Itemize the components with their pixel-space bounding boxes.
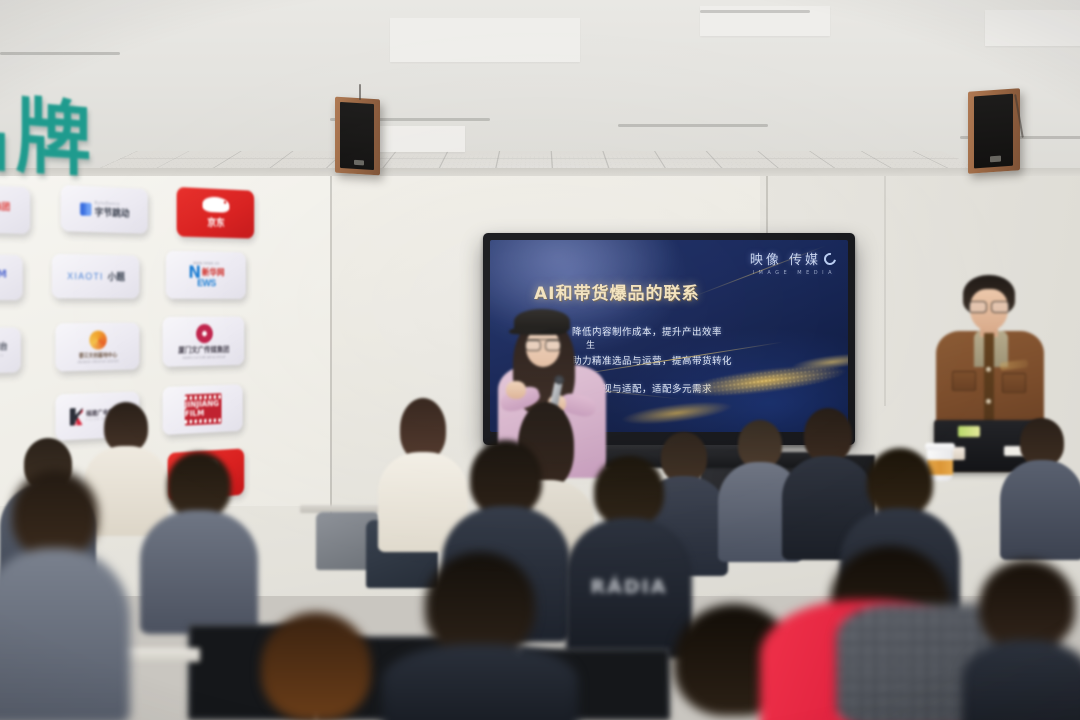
brand-card-cn: 新华网 bbox=[202, 269, 225, 279]
presenter-beret bbox=[514, 309, 570, 335]
audience-head bbox=[470, 440, 542, 516]
audience-head bbox=[594, 456, 664, 526]
audience-head bbox=[867, 448, 933, 516]
laptop-sticker bbox=[958, 426, 980, 437]
audience-torso bbox=[0, 548, 130, 720]
audience-member-foreground bbox=[382, 552, 578, 720]
audience-head bbox=[104, 402, 148, 452]
audience-head bbox=[261, 612, 371, 720]
brand-card: 厦门文广传媒集团 XIAMEN CULTURE MEDIA GROUP bbox=[163, 317, 244, 367]
brand-card-cn: 京东 bbox=[207, 216, 224, 228]
jacket-button bbox=[986, 367, 991, 372]
brand-card-cn: 小题 bbox=[108, 270, 125, 284]
audience-head bbox=[167, 452, 231, 518]
ceiling-speaker-left bbox=[335, 98, 380, 174]
presenter-left-hand bbox=[506, 381, 526, 399]
slide-title: AI和带货爆品的联系 bbox=[534, 279, 699, 304]
brand-card-jd: 京东 bbox=[177, 187, 254, 239]
speaker-badge bbox=[990, 156, 1001, 163]
audience-member bbox=[1000, 418, 1080, 558]
xiamen-badge-icon bbox=[196, 324, 213, 343]
brand-card-cn: 晋江文创基地中心 bbox=[77, 351, 119, 359]
standing-organizer-glasses bbox=[968, 301, 1010, 311]
photo-scene: 品牌 恒安集团 HENGAN ByteDance 字节跳动 bbox=[0, 0, 1080, 720]
brand-card: XIAOTI 小题 bbox=[52, 254, 139, 299]
jacket-pocket-right bbox=[1002, 373, 1026, 393]
ceiling-shadow bbox=[618, 124, 768, 127]
brand-card-en: XIAOTI bbox=[67, 271, 104, 282]
jacket-button bbox=[986, 399, 991, 404]
slide-brand-logo: 映像 传媒 IMAGE MEDIA bbox=[750, 249, 836, 276]
ring-icon bbox=[822, 250, 839, 267]
fujian-k-icon bbox=[70, 408, 83, 426]
brand-card: 晋江文创基地中心 JINJIANG CREATIVE CENTER bbox=[56, 323, 140, 372]
slide-logo-en: IMAGE MEDIA bbox=[750, 270, 836, 276]
brand-card-cn: 喜马拉雅FM bbox=[0, 268, 7, 280]
wall-seam bbox=[884, 176, 886, 406]
brand-card-cn: 泉州广播电视台 bbox=[0, 343, 8, 352]
ceiling-shadow bbox=[700, 10, 810, 13]
jinjiang-swirl-icon bbox=[89, 330, 106, 349]
brand-card-cn: 恒安集团 bbox=[0, 202, 10, 212]
jacket-text: RÁDIA bbox=[591, 576, 668, 598]
brand-wall-headline: 品牌 bbox=[0, 88, 96, 181]
jd-dog-icon bbox=[203, 196, 230, 212]
brand-card: ByteDance 字节跳动 bbox=[61, 185, 148, 234]
bytedance-mark bbox=[80, 203, 91, 216]
ceiling-panel bbox=[985, 10, 1080, 46]
film-strip-icon: JINJIANG FILM bbox=[185, 393, 222, 425]
ceiling-speaker-right bbox=[968, 90, 1020, 172]
brand-card-en: JINJIANG CREATIVE CENTER bbox=[77, 359, 119, 364]
brand-card-en: HENGAN bbox=[0, 211, 10, 217]
audience-member bbox=[140, 452, 258, 632]
audience-head bbox=[12, 470, 98, 558]
brand-card-cn: 厦门文广传媒集团 bbox=[178, 344, 229, 355]
jacket-pocket-left bbox=[952, 371, 976, 391]
speaker-cable bbox=[359, 84, 361, 100]
audience-member-foreground bbox=[0, 470, 130, 720]
brand-card-en: XIAMEN CULTURE MEDIA GROUP bbox=[178, 355, 229, 360]
audience-member-foreground bbox=[226, 612, 406, 720]
speaker-badge bbox=[354, 159, 364, 165]
wall-seam bbox=[330, 176, 332, 516]
audience-head bbox=[738, 420, 782, 468]
brand-card: 喜马拉雅FM 在这里 · 听见世界 bbox=[0, 253, 23, 300]
audience-head bbox=[979, 560, 1075, 650]
presenter-glasses bbox=[525, 339, 561, 348]
audience-head bbox=[425, 552, 535, 656]
audience-torso bbox=[1000, 460, 1080, 560]
brand-card-en: QUANZHOU RADIO TV bbox=[0, 353, 8, 358]
ceiling-shadow bbox=[0, 52, 120, 55]
brand-card: JINJIANG FILM bbox=[163, 384, 243, 435]
ceiling-panel bbox=[390, 18, 580, 62]
audience-torso bbox=[382, 644, 578, 720]
audience-head bbox=[1020, 418, 1064, 466]
brand-card-en: 在这里 · 听见世界 bbox=[0, 281, 7, 286]
audience-member-foreground bbox=[962, 560, 1080, 720]
brand-card-cn: JINJIANG FILM bbox=[185, 399, 222, 419]
brand-card: 恒安集团 HENGAN bbox=[0, 183, 30, 234]
brand-card: www.news.cn N 新华网 EWS bbox=[166, 251, 246, 299]
brand-card: 泉州广播电视台 QUANZHOU RADIO TV bbox=[0, 327, 21, 374]
audience-head bbox=[400, 398, 446, 460]
audience-torso bbox=[962, 640, 1080, 720]
brand-card-cn: 字节跳动 bbox=[95, 208, 130, 219]
